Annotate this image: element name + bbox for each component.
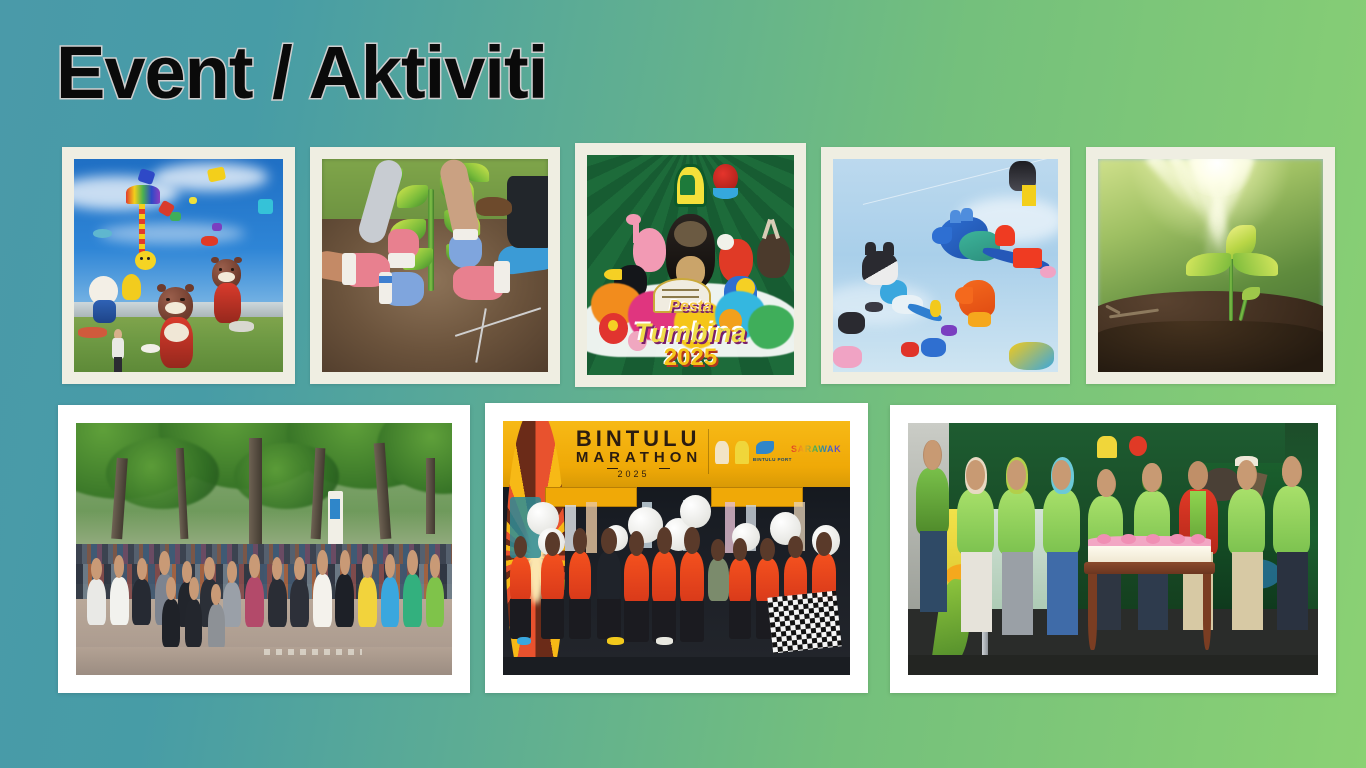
gallery-card-kite-festival-field[interactable] [62,147,295,384]
backdrop-logo-shield-icon [1097,436,1118,459]
poster-line1: Pesta [587,298,794,316]
photo-tree-planting-hands [322,159,548,372]
gallery-card-kites-sky[interactable] [821,147,1070,384]
logo-bintulu-council-icon [735,441,749,464]
gallery-card-bintulu-marathon-start[interactable]: BINTULU MARATHON 2025 BINTULU PORT SARAW… [485,403,868,693]
photo-kite-festival-field [74,159,283,372]
photo-cake-cutting-ceremony [908,423,1318,675]
marathon-sponsor-sarawak: SARAWAK [791,444,841,454]
person-ceremony [1273,486,1310,554]
gallery-card-pesta-tumbina-poster[interactable]: Pesta Tumbina 2025 [575,143,806,387]
photo-kites-sky [833,159,1058,372]
event-gallery: Pesta Tumbina 2025 [0,0,1366,768]
checkered-flag [767,590,842,653]
poster-pesta-tumbina-2025: Pesta Tumbina 2025 [587,155,794,375]
poster-year: 2025 [587,344,794,372]
marathon-sponsor-bintulu-port: BINTULU PORT [753,457,792,462]
person-ceremony [1043,489,1080,555]
marathon-banner-year: 2025 [618,469,650,479]
gallery-card-cake-cutting-ceremony[interactable] [890,405,1336,693]
marathon-banner-subtitle: MARATHON [576,449,702,466]
person-ceremony [998,489,1035,555]
photo-seedling-soil [1098,159,1323,372]
logo-bintulu-port-icon [756,441,773,454]
gallery-card-tree-planting-hands[interactable] [310,147,560,384]
person-ceremony [957,489,994,555]
photo-community-group-park [76,423,452,675]
person-ceremony [1228,489,1265,555]
photo-bintulu-marathon-start: BINTULU MARATHON 2025 BINTULU PORT SARAW… [503,421,850,675]
ceremony-table [1084,562,1215,575]
logo-hornbill-icon [715,441,729,464]
gallery-card-seedling-soil[interactable] [1086,147,1335,384]
person-ceremony [916,468,949,534]
gallery-card-community-group-park[interactable] [58,405,470,693]
